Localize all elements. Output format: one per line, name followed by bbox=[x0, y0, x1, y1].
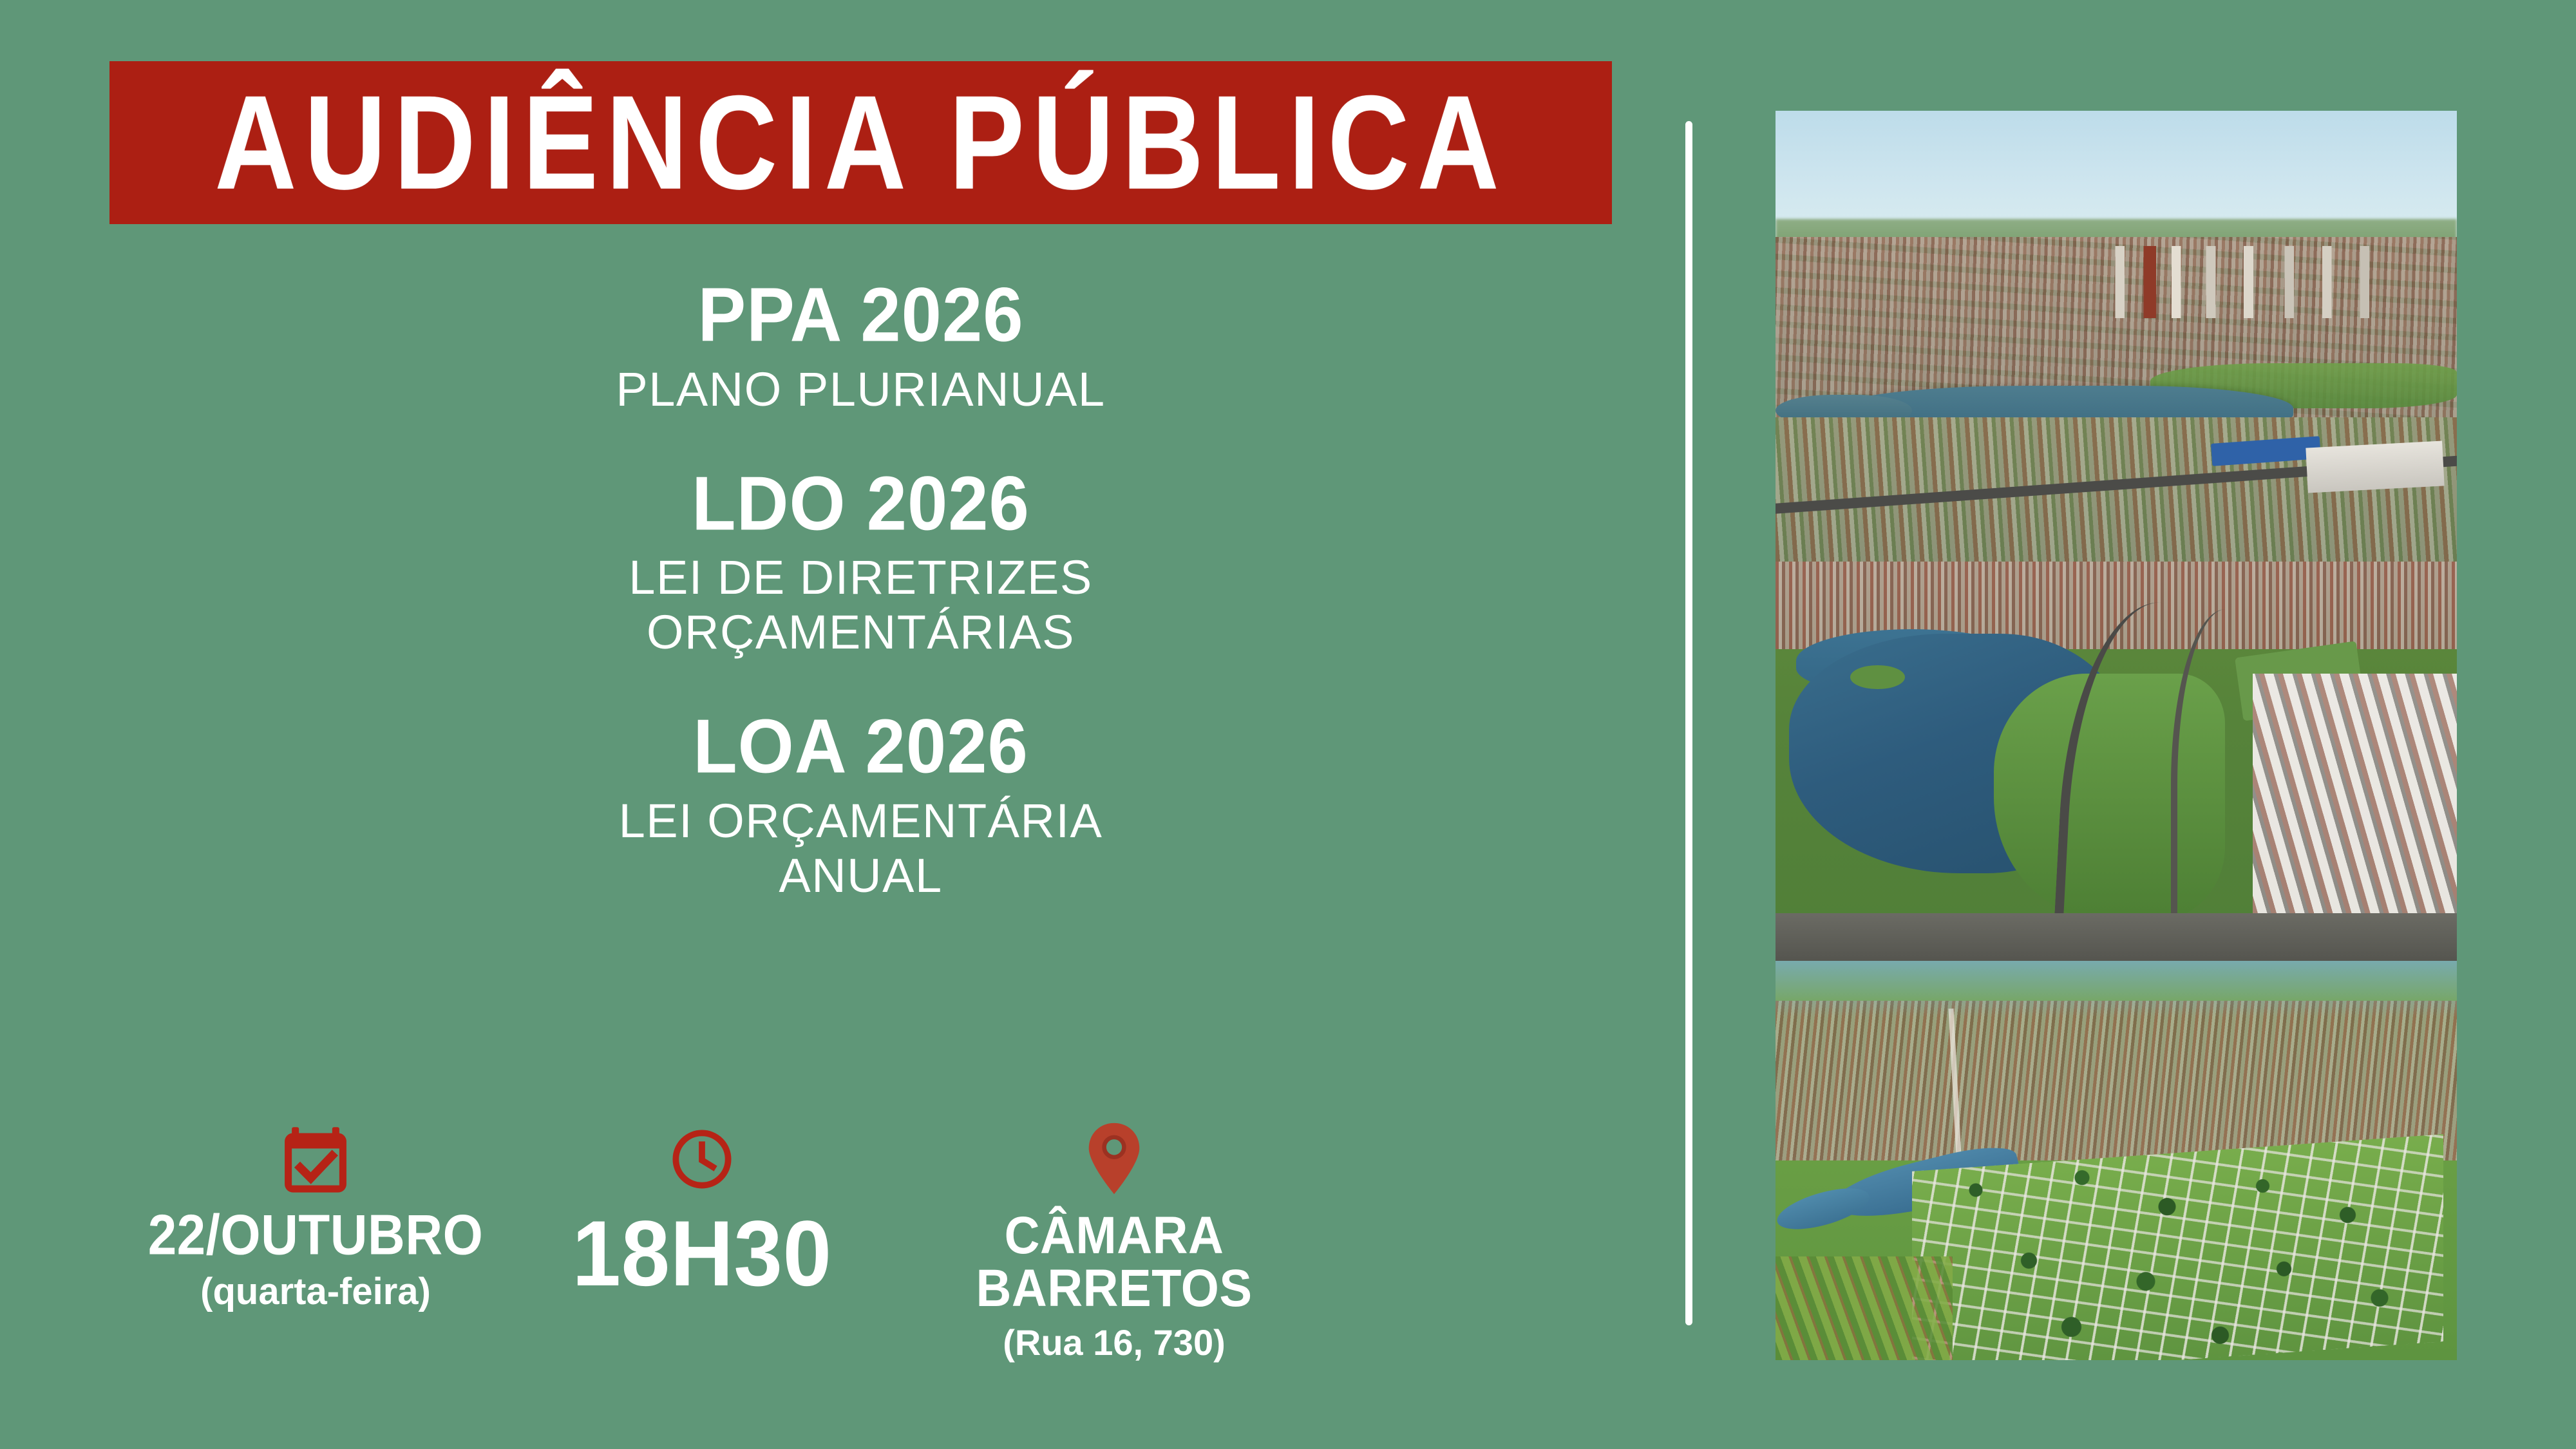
photo-aerial-grid-town-fields bbox=[1776, 961, 2457, 1360]
photo3-town bbox=[1776, 1001, 2457, 1160]
law-title-loa: LOA 2026 bbox=[109, 706, 1612, 787]
photo3-farm-fields bbox=[1776, 1256, 1953, 1360]
photo1-white-warehouse bbox=[2306, 441, 2445, 493]
law-title-ldo: LDO 2026 bbox=[109, 463, 1612, 544]
photo2-foreground-road bbox=[1776, 913, 2457, 961]
law-title-ppa: PPA 2026 bbox=[109, 274, 1612, 355]
photo1-sky bbox=[1776, 111, 2457, 237]
event-details-row: 22/OUTUBRO (quarta-feira) 18H30 bbox=[109, 1121, 1462, 1363]
event-place-item: CÂMARA BARRETOS (Rua 16, 730) bbox=[882, 1121, 1346, 1363]
law-block-loa: LOA 2026 LEI ORÇAMENTÁRIA ANUAL bbox=[109, 708, 1612, 903]
law-block-ppa: PPA 2026 PLANO PLURIANUAL bbox=[109, 277, 1612, 417]
map-pin-icon bbox=[1084, 1121, 1144, 1198]
photo1-downtown-towers bbox=[2103, 246, 2416, 318]
photo3-horizon-haze bbox=[1776, 961, 2457, 1017]
event-time-value: 18H30 bbox=[572, 1207, 831, 1300]
event-place-address: (Rua 16, 730) bbox=[1003, 1323, 1226, 1363]
law-subtitle-ldo-line1: LEI DE DIRETRIZES bbox=[109, 550, 1612, 605]
event-date-item: 22/OUTUBRO (quarta-feira) bbox=[109, 1121, 522, 1312]
event-time-item: 18H30 bbox=[522, 1121, 882, 1297]
photo-collage bbox=[1776, 111, 2457, 1360]
event-weekday-value: (quarta-feira) bbox=[200, 1271, 431, 1312]
photo-aerial-lake-park bbox=[1776, 562, 2457, 961]
law-subtitle-ppa: PLANO PLURIANUAL bbox=[109, 362, 1612, 417]
title-banner: AUDIÊNCIA PÚBLICA bbox=[109, 61, 1612, 224]
law-block-ldo: LDO 2026 LEI DE DIRETRIZES ORÇAMENTÁRIAS bbox=[109, 466, 1612, 660]
event-date-value: 22/OUTUBRO bbox=[148, 1207, 484, 1264]
calendar-check-icon bbox=[278, 1121, 354, 1198]
vertical-divider bbox=[1685, 121, 1692, 1325]
photo-aerial-cityscape-skyline bbox=[1776, 111, 2457, 562]
clock-icon bbox=[668, 1121, 735, 1198]
event-place-name-line1: CÂMARA bbox=[1005, 1207, 1224, 1265]
left-content-column: AUDIÊNCIA PÚBLICA PPA 2026 PLANO PLURIAN… bbox=[0, 0, 1687, 1449]
photo3-trees bbox=[1912, 1153, 2443, 1360]
law-subtitle-loa-line2: ANUAL bbox=[109, 848, 1612, 903]
law-subtitle-ldo-line2: ORÇAMENTÁRIAS bbox=[109, 605, 1612, 659]
law-blocks-list: PPA 2026 PLANO PLURIANUAL LDO 2026 LEI D… bbox=[109, 277, 1612, 903]
event-place-name-line2: BARRETOS bbox=[976, 1260, 1252, 1318]
law-subtitle-loa-line1: LEI ORÇAMENTÁRIA bbox=[109, 793, 1612, 848]
page-title: AUDIÊNCIA PÚBLICA bbox=[214, 76, 1506, 210]
